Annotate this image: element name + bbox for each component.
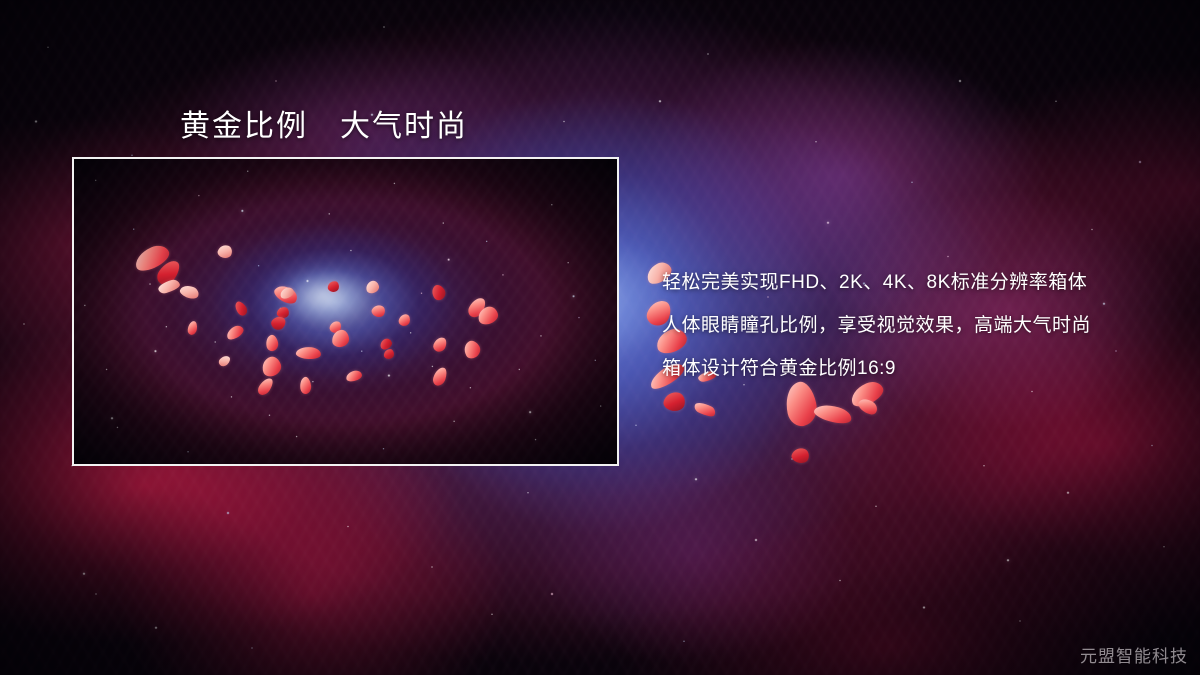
body-line-3: 箱体设计符合黄金比例16:9	[662, 347, 1182, 390]
presentation-slide: 黄金比例 大气时尚	[0, 0, 1200, 675]
inner-vignette	[74, 159, 617, 464]
watermark: 元盟智能科技	[1080, 642, 1188, 667]
body-copy: 轻松完美实现FHD、2K、4K、8K标准分辨率箱体 人体眼睛瞳孔比例，享受视觉效…	[662, 261, 1182, 390]
body-line-1: 轻松完美实现FHD、2K、4K、8K标准分辨率箱体	[662, 261, 1182, 304]
body-line-2: 人体眼睛瞳孔比例，享受视觉效果，高端大气时尚	[662, 304, 1182, 347]
product-image-frame	[72, 157, 619, 466]
page-title: 黄金比例 大气时尚	[180, 101, 468, 145]
